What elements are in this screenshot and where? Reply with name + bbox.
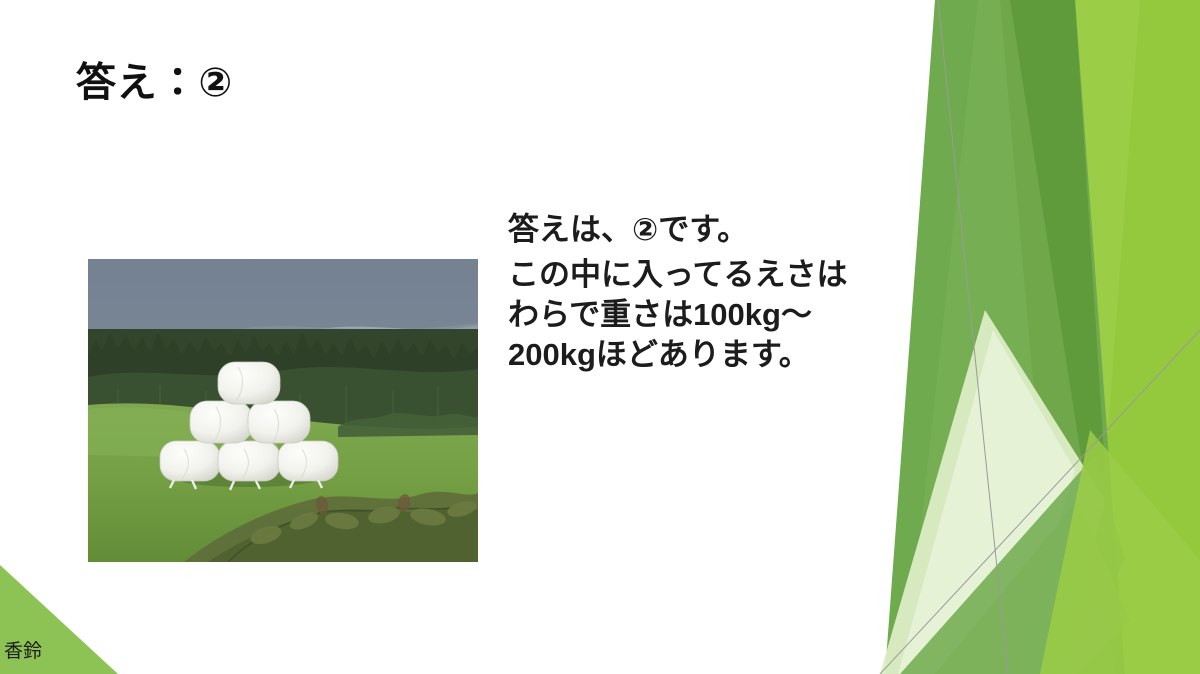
bale-photo-illustration [88, 259, 478, 562]
decor-shape-bright-lower [1040, 430, 1200, 674]
decor-shape-dark-wedge [1000, 0, 1105, 520]
bale-middle-left [190, 401, 252, 443]
paragraph-answer-statement: 答えは、②です。 [508, 214, 938, 245]
body-text-block: 答えは、②です。 この中に入ってるえさは わらで重さは100kg〜 200kgほ… [508, 214, 938, 370]
bale-bottom-left [160, 441, 220, 481]
slide-canvas: 答え：② [0, 0, 1200, 674]
decor-hairline-2 [880, 330, 1200, 674]
body-line: この中に入ってるえさは [508, 259, 938, 290]
decor-shape-lower-diagonal [900, 455, 1125, 674]
decor-hairline-1 [938, 0, 1008, 674]
bale-bottom-center [218, 441, 280, 481]
body-line: 200kgほどあります。 [508, 339, 938, 370]
paragraph-explanation: この中に入ってるえさは わらで重さは100kg〜 200kgほどあります。 [508, 259, 938, 370]
bale-top [218, 362, 280, 404]
decor-shape-right-bright2 [1090, 0, 1200, 674]
bale-bottom-right [278, 441, 338, 481]
decor-shape-lower-diagonal-2 [935, 500, 1130, 674]
page-title: 答え：② [76, 58, 233, 108]
body-line: わらで重さは100kg〜 [508, 299, 938, 330]
bale-photo [88, 259, 478, 562]
decor-shape-right-bright [1010, 0, 1200, 674]
footer-author-name: 香鈴 [4, 642, 42, 661]
decor-shape-paler-wedge [898, 330, 1075, 674]
body-line: 答えは、②です。 [508, 214, 938, 245]
bale-middle-right [248, 401, 310, 443]
